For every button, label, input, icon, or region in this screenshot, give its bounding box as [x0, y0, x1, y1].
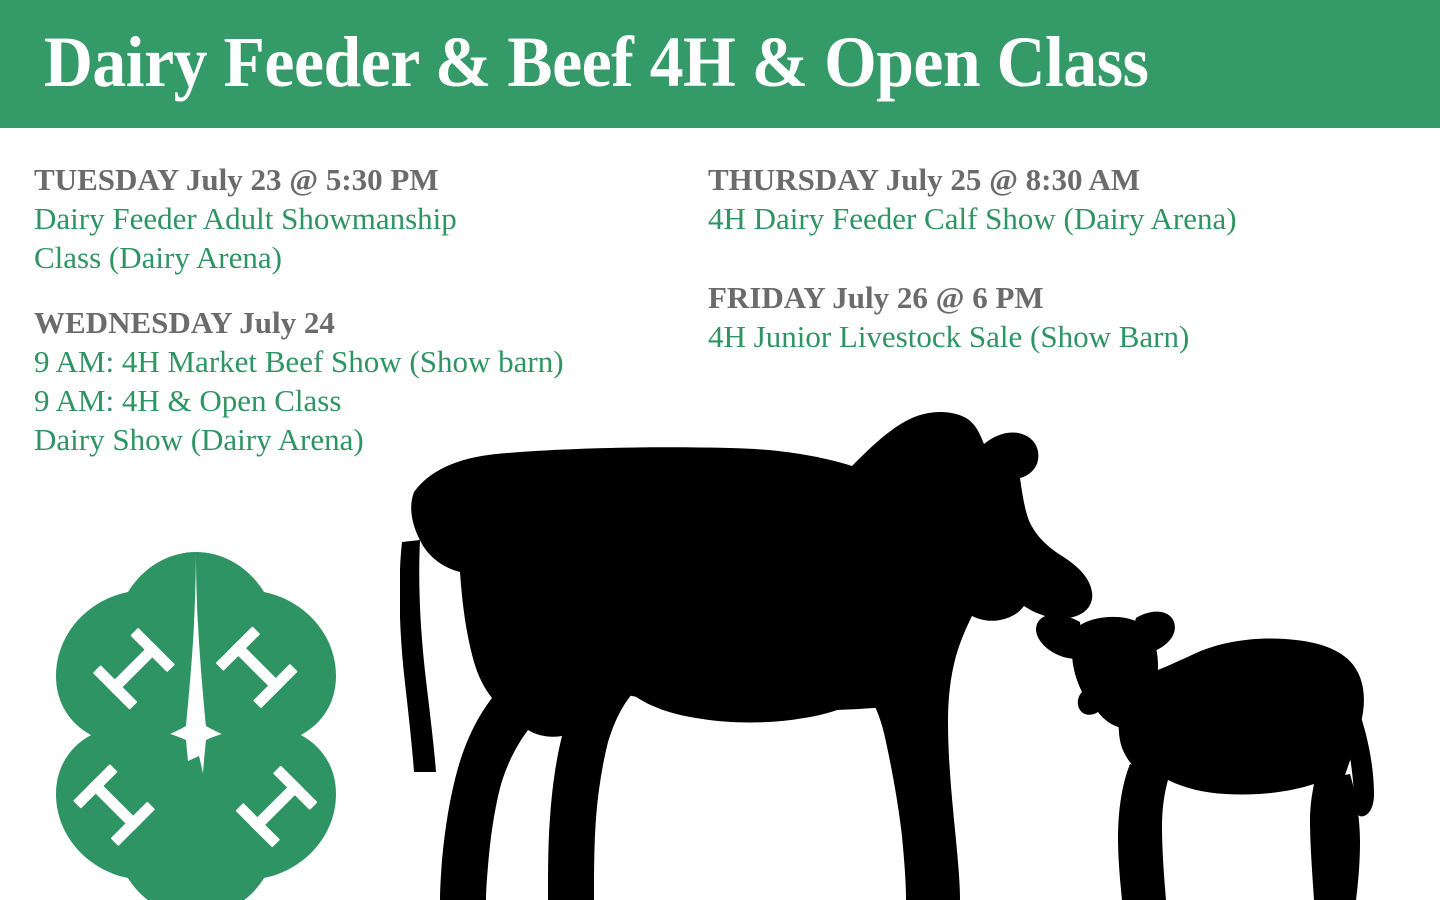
schedule-line: Class (Dairy Arena)	[34, 238, 694, 277]
4h-clover-icon	[36, 548, 356, 900]
schedule-heading-tuesday: TUESDAY July 23 @ 5:30 PM	[34, 160, 694, 199]
schedule-line: 4H Junior Livestock Sale (Show Barn)	[708, 317, 1408, 356]
schedule-heading-thursday: THURSDAY July 25 @ 8:30 AM	[708, 160, 1408, 199]
header-banner: Dairy Feeder & Beef 4H & Open Class	[0, 0, 1440, 128]
schedule-line: 9 AM: 4H & Open Class	[34, 381, 694, 420]
schedule-line: 9 AM: 4H Market Beef Show (Show barn)	[34, 342, 694, 381]
schedule-block-thursday: THURSDAY July 25 @ 8:30 AM 4H Dairy Feed…	[708, 160, 1408, 238]
schedule-section: TUESDAY July 23 @ 5:30 PM Dairy Feeder A…	[0, 128, 1440, 548]
schedule-line: Dairy Show (Dairy Arena)	[34, 420, 694, 459]
schedule-column-right: THURSDAY July 25 @ 8:30 AM 4H Dairy Feed…	[708, 128, 1408, 396]
schedule-heading-friday: FRIDAY July 26 @ 6 PM	[708, 278, 1408, 317]
schedule-column-left: TUESDAY July 23 @ 5:30 PM Dairy Feeder A…	[34, 128, 694, 459]
schedule-line: 4H Dairy Feeder Calf Show (Dairy Arena)	[708, 199, 1408, 238]
schedule-line: Dairy Feeder Adult Showmanship	[34, 199, 694, 238]
dairy-calf-silhouette-icon	[1018, 588, 1418, 900]
schedule-heading-wednesday: WEDNESDAY July 24	[34, 303, 694, 342]
schedule-block-friday: FRIDAY July 26 @ 6 PM 4H Junior Livestoc…	[708, 278, 1408, 356]
schedule-block-wednesday: WEDNESDAY July 24 9 AM: 4H Market Beef S…	[34, 303, 694, 459]
schedule-block-tuesday: TUESDAY July 23 @ 5:30 PM Dairy Feeder A…	[34, 160, 694, 277]
page-title: Dairy Feeder & Beef 4H & Open Class	[44, 14, 1148, 110]
